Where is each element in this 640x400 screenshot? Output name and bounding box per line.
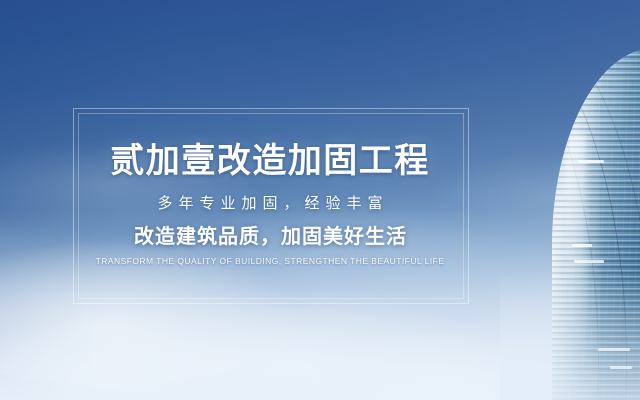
banner-slogan: 改造建筑品质，加固美好生活: [133, 227, 407, 247]
hero-banner: 贰加壹改造加固工程 多年专业加固，经验丰富 改造建筑品质，加固美好生活 TRAN…: [0, 0, 640, 400]
tower-base-haze: [500, 270, 640, 400]
banner-subtitle: 多年专业加固，经验丰富: [151, 196, 388, 211]
skyscraper: [500, 0, 640, 400]
tower-window-glint: [572, 244, 592, 247]
banner-text-block: 贰加壹改造加固工程 多年专业加固，经验丰富 改造建筑品质，加固美好生活 TRAN…: [73, 108, 467, 302]
tower-window-glint: [574, 260, 604, 263]
banner-english-tagline: TRANSFORM THE QUALITY OF BUILDING, STREN…: [96, 257, 445, 266]
banner-title: 贰加壹改造加固工程: [110, 144, 430, 178]
tower-window-glint: [578, 160, 604, 163]
